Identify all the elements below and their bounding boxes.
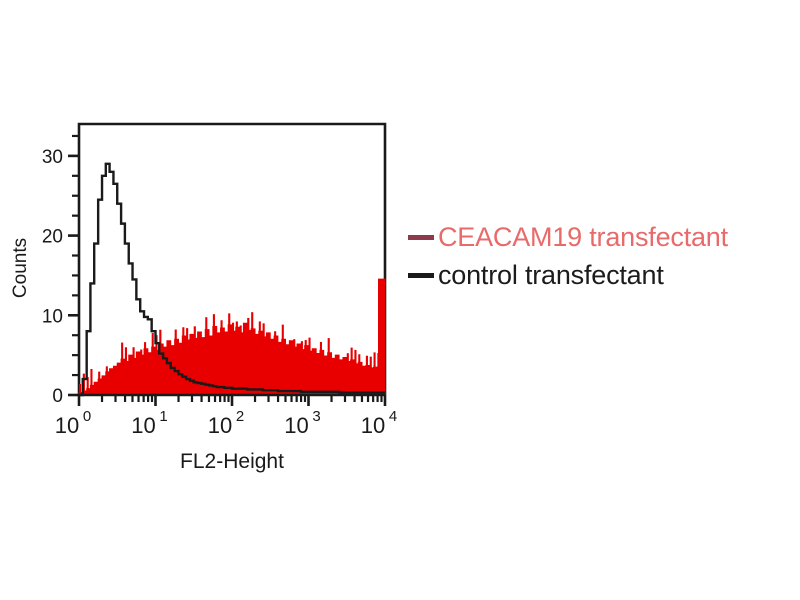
x-axis-tick-exponent: 3 [312, 408, 320, 425]
histogram-noise-bar [79, 384, 81, 395]
x-axis-tick-label: 10 [55, 413, 79, 438]
histogram-noise-bar [366, 356, 368, 395]
y-axis-tick-label: 30 [42, 147, 63, 168]
histogram-noise-bar [152, 333, 154, 395]
legend-item-ceacam19: CEACAM19 transfectant [408, 218, 800, 256]
histogram-noise-bar [194, 326, 196, 395]
histogram-noise-bar [232, 323, 234, 395]
histogram-noise-bar [236, 321, 238, 395]
histogram-noise-bar [282, 325, 284, 395]
histogram-noise-bar [328, 338, 330, 395]
histogram-noise-bar [221, 320, 223, 395]
histogram-noise-bar [133, 347, 135, 395]
histogram-noise-bar [354, 350, 356, 395]
x-axis-label: FL2-Height [180, 450, 284, 473]
histogram-noise-bar [240, 325, 242, 395]
histogram-noise-bar [98, 372, 100, 395]
chart-legend: CEACAM19 transfectant control transfecta… [408, 218, 800, 294]
histogram-noise-bar [301, 341, 303, 395]
y-axis-label: Counts [10, 238, 31, 298]
histogram-noise-bar [370, 357, 372, 395]
histogram-noise-bar [351, 348, 353, 395]
x-axis-tick-label: 10 [284, 413, 308, 438]
histogram-noise-bar [374, 352, 376, 395]
legend-marker-line-icon [408, 273, 434, 278]
x-axis-tick-label: 10 [208, 413, 232, 438]
histogram-noise-bar [320, 342, 322, 395]
legend-label-ceacam19: CEACAM19 transfectant [438, 222, 728, 252]
histogram-noise-bar [377, 353, 379, 395]
figure-background [0, 0, 800, 600]
x-axis-tick-exponent: 0 [83, 408, 91, 425]
histogram-noise-bar [125, 347, 127, 395]
x-axis-tick-exponent: 2 [236, 408, 244, 425]
legend-marker-line-icon [408, 235, 434, 240]
histogram-noise-bar [182, 327, 184, 395]
x-axis-tick-exponent: 4 [389, 408, 397, 425]
x-axis-tick-label: 10 [361, 413, 385, 438]
histogram-noise-bar [309, 338, 311, 395]
histogram-noise-bar [347, 353, 349, 395]
y-axis-tick-label: 10 [42, 306, 63, 327]
histogram-noise-bar [293, 339, 295, 395]
histogram-noise-bar [263, 323, 265, 395]
histogram-noise-bar [259, 321, 261, 395]
histogram-noise-bar [274, 331, 276, 395]
histogram-noise-bar [251, 312, 253, 395]
histogram-noise-bar [144, 342, 146, 395]
y-axis-tick-label: 20 [42, 227, 63, 248]
histogram-noise-bar [90, 369, 92, 395]
histogram-noise-bar [140, 349, 142, 395]
legend-label-control: control transfectant [438, 260, 664, 290]
histogram-noise-bar [358, 354, 360, 395]
flow-cytometry-histogram: 0102030100101102103104 Counts FL2-Height [0, 0, 800, 600]
histogram-noise-bar [106, 366, 108, 395]
x-axis-tick-label: 10 [131, 413, 155, 438]
histogram-noise-bar [213, 314, 215, 395]
histogram-noise-bar [159, 330, 161, 395]
histogram-noise-bar [175, 330, 177, 395]
x-axis-tick-exponent: 1 [159, 408, 167, 425]
histogram-noise-bar [305, 340, 307, 395]
y-axis-tick-label: 0 [52, 386, 63, 407]
histogram-noise-bar [228, 313, 230, 395]
histogram-noise-bar [247, 318, 249, 395]
histogram-noise-bar [121, 343, 123, 395]
legend-item-control: control transfectant [408, 256, 800, 294]
histogram-noise-bar [186, 328, 188, 395]
